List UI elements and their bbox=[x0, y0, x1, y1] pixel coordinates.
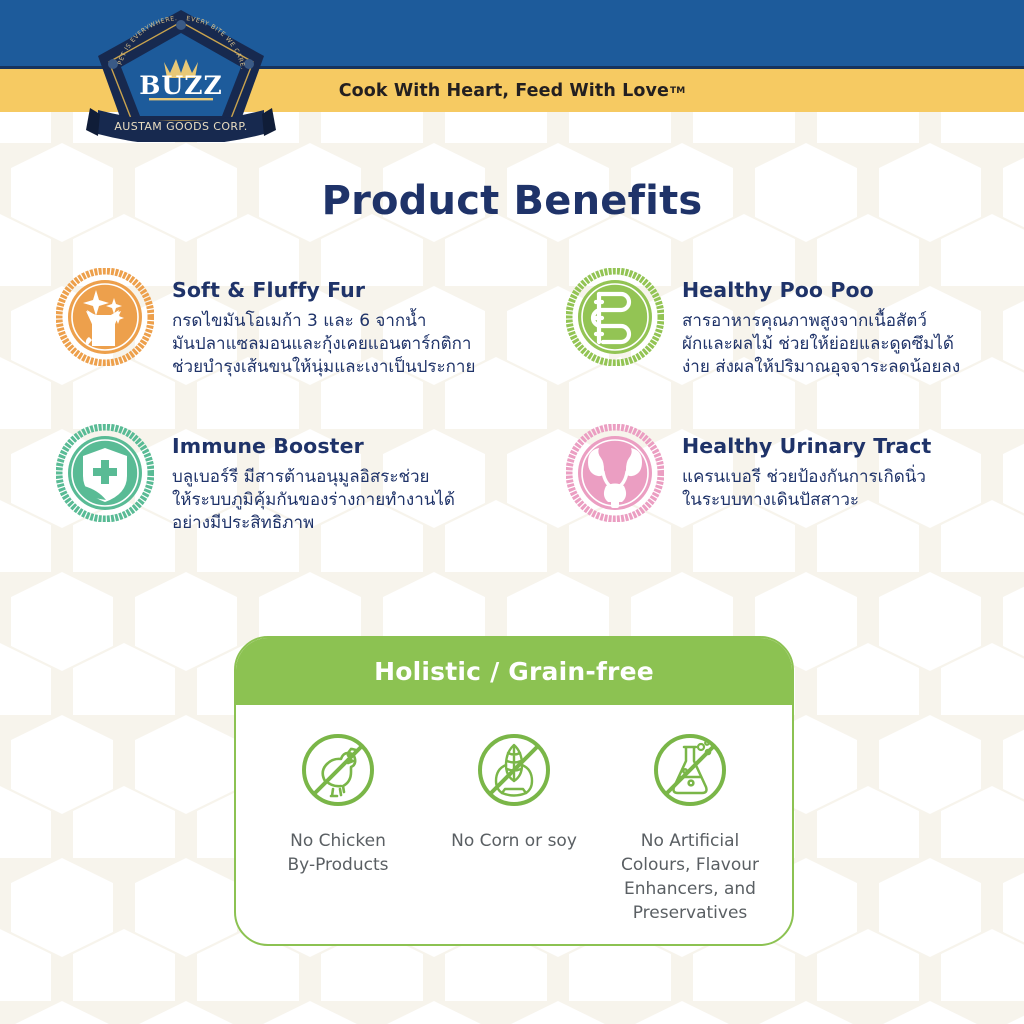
tagline-text: Cook With Heart, Feed With Love bbox=[339, 81, 669, 101]
feature-label: No Chicken By-Products bbox=[288, 829, 389, 877]
svg-text:AUSTAM GOODS CORP.: AUSTAM GOODS CORP. bbox=[114, 120, 247, 133]
kidney-bladder-icon bbox=[566, 424, 664, 522]
feature-no-chicken-by-products: No Chicken By-Products bbox=[250, 727, 426, 926]
benefit-body: แครนเบอรี ช่วยป้องกันการเกิดนิ่ว ในระบบท… bbox=[682, 466, 931, 512]
cat-sparkle-icon bbox=[56, 268, 154, 366]
feature-label: No Corn or soy bbox=[451, 829, 577, 853]
brand-logo: BUZZ PET IS EVERYWHERE. EVERY BITE WE CA… bbox=[86, 6, 276, 142]
card-heading: Holistic / Grain-free bbox=[235, 637, 793, 705]
intestine-icon bbox=[566, 268, 664, 366]
no-chemicals-icon bbox=[647, 727, 733, 813]
benefit-heading: Healthy Poo Poo bbox=[682, 278, 960, 302]
card-features: No Chicken By-Products No Corn or soy bbox=[236, 705, 792, 926]
holistic-grain-free-card: Holistic / Grain-free No C bbox=[234, 636, 794, 946]
no-chicken-icon bbox=[295, 727, 381, 813]
benefit-healthy-urinary-tract: Healthy Urinary Tract แครนเบอรี ช่วยป้อง… bbox=[566, 424, 996, 522]
feature-no-artificial-additives: No Artificial Colours, Flavour Enhancers… bbox=[602, 727, 778, 926]
benefit-body: กรดไขมันโอเมก้า 3 และ 6 จากน้ำ มันปลาแซล… bbox=[172, 310, 475, 378]
product-benefits-infographic: Cook With Heart, Feed With LoveTM BUZZ P… bbox=[0, 0, 1024, 1024]
feature-label: No Artificial Colours, Flavour Enhancers… bbox=[621, 829, 759, 926]
benefit-body: สารอาหารคุณภาพสูงจากเนื้อสัตว์ ผักและผลไ… bbox=[682, 310, 960, 378]
trademark-mark: TM bbox=[670, 86, 685, 96]
no-corn-icon bbox=[471, 727, 557, 813]
benefit-healthy-poo-poo: Healthy Poo Poo สารอาหารคุณภาพสูงจากเนื้… bbox=[566, 268, 996, 378]
page-title: Product Benefits bbox=[0, 178, 1024, 224]
benefit-body: บลูเบอร์รี มีสารต้านอนุมูลอิสระช่วย ให้ร… bbox=[172, 466, 455, 534]
feature-no-corn-or-soy: No Corn or soy bbox=[426, 727, 602, 926]
benefit-heading: Healthy Urinary Tract bbox=[682, 434, 931, 458]
benefit-heading: Immune Booster bbox=[172, 434, 455, 458]
benefit-immune-booster: Immune Booster บลูเบอร์รี มีสารต้านอนุมู… bbox=[56, 424, 526, 534]
benefit-heading: Soft & Fluffy Fur bbox=[172, 278, 475, 302]
benefit-soft-fluffy-fur: Soft & Fluffy Fur กรดไขมันโอเมก้า 3 และ … bbox=[56, 268, 526, 378]
svg-text:BUZZ: BUZZ bbox=[139, 71, 222, 100]
shield-cross-icon bbox=[56, 424, 154, 522]
